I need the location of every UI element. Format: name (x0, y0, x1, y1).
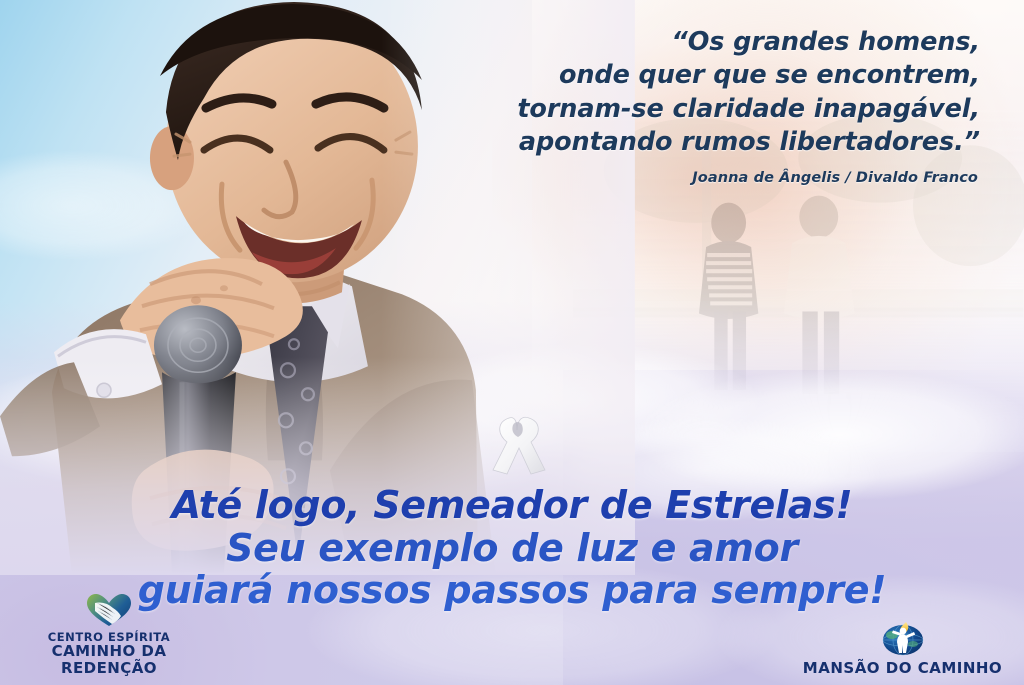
quote-attribution: Joanna de Ângelis / Divaldo Franco (418, 170, 978, 186)
white-mourning-ribbon-icon (487, 408, 547, 482)
quote-text: “Os grandes homens, onde quer que se enc… (420, 26, 980, 160)
heart-hands-icon (86, 592, 132, 628)
headline-line-1: Até logo, Semeador de Estrelas! (0, 484, 1024, 527)
quote-line-3: tornam-se claridade inapagável, (420, 93, 980, 126)
memorial-poster: “Os grandes homens, onde quer que se enc… (0, 0, 1024, 685)
logo-left-line-2: CAMINHO DA REDENÇÃO (14, 643, 204, 677)
quote-line-1: “Os grandes homens, (420, 26, 980, 59)
headline-line-2: Seu exemplo de luz e amor (0, 527, 1024, 570)
quote-line-2: onde quer que se encontrem, (420, 59, 980, 92)
quote-line-4: apontando rumos libertadores.” (420, 126, 980, 159)
logo-centro-espirita: CENTRO ESPÍRITA CAMINHO DA REDENÇÃO (14, 592, 204, 677)
globe-figure-icon (882, 617, 924, 657)
logo-right-line-1: MANSÃO DO CAMINHO (803, 660, 1002, 677)
logo-mansao-do-caminho: MANSÃO DO CAMINHO (795, 617, 1010, 677)
